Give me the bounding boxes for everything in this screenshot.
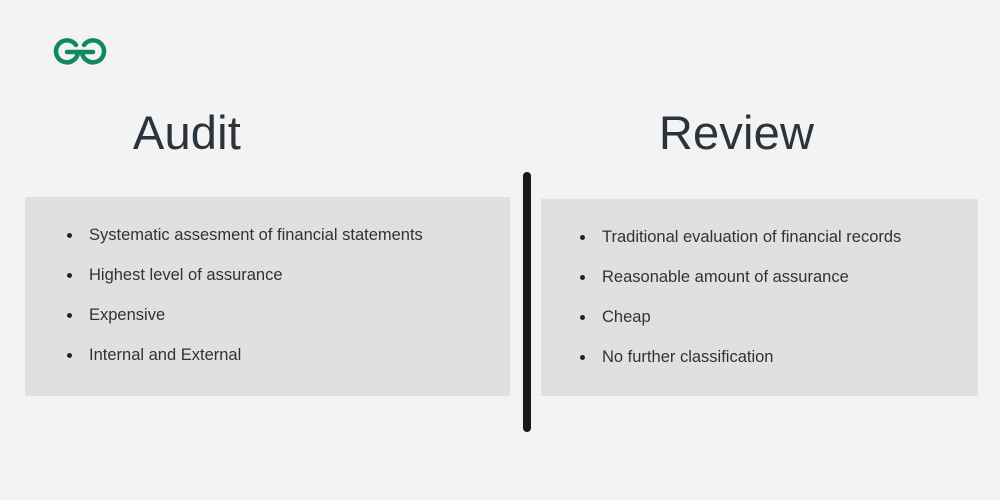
list-item: Traditional evaluation of financial reco…	[563, 217, 978, 257]
bullet-dot-icon	[580, 275, 585, 280]
audit-panel: Systematic assesment of financial statem…	[25, 197, 510, 396]
list-item: Reasonable amount of assurance	[563, 257, 978, 297]
bullet-dot-icon	[67, 233, 72, 238]
column-heading-review: Review	[541, 103, 932, 163]
bullet-dot-icon	[67, 273, 72, 278]
list-item-label: Expensive	[89, 306, 165, 324]
list-item-label: Internal and External	[89, 346, 241, 364]
list-item-label: Reasonable amount of assurance	[602, 268, 849, 286]
column-heading-audit: Audit	[25, 103, 349, 163]
audit-bullet-list: Systematic assesment of financial statem…	[25, 215, 510, 375]
list-item: Systematic assesment of financial statem…	[50, 215, 510, 255]
column-divider	[523, 172, 531, 432]
review-panel: Traditional evaluation of financial reco…	[541, 199, 978, 396]
list-item-label: Traditional evaluation of financial reco…	[602, 228, 901, 246]
bullet-dot-icon	[580, 315, 585, 320]
review-bullet-list: Traditional evaluation of financial reco…	[541, 217, 978, 377]
bullet-dot-icon	[580, 355, 585, 360]
geeksforgeeks-logo[interactable]	[48, 32, 112, 66]
list-item: No further classification	[563, 337, 978, 377]
list-item: Internal and External	[50, 335, 510, 375]
list-item-label: Cheap	[602, 308, 651, 326]
list-item: Expensive	[50, 295, 510, 335]
list-item-label: Systematic assesment of financial statem…	[89, 226, 423, 244]
bullet-dot-icon	[67, 313, 72, 318]
list-item-label: No further classification	[602, 348, 774, 366]
geeksforgeeks-logo-mark	[48, 32, 112, 66]
list-item-label: Highest level of assurance	[89, 266, 283, 284]
bullet-dot-icon	[580, 235, 585, 240]
list-item: Cheap	[563, 297, 978, 337]
list-item: Highest level of assurance	[50, 255, 510, 295]
bullet-dot-icon	[67, 353, 72, 358]
